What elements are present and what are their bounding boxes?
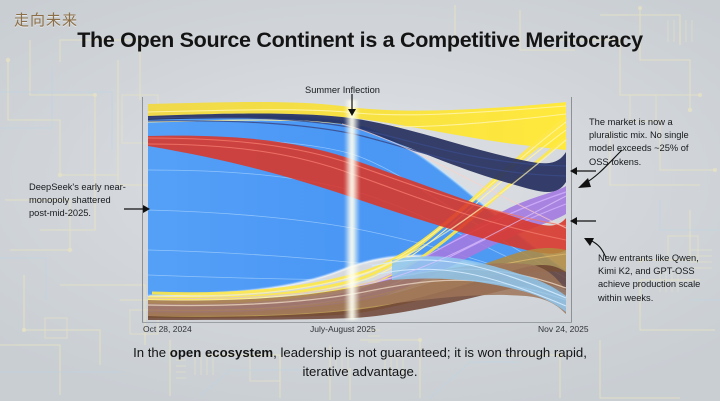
annotation-summer-inflection: Summer Inflection xyxy=(305,84,380,97)
caption-emphasis: open ecosystem xyxy=(170,345,273,360)
caption-lead: In the xyxy=(133,345,170,360)
axis-bottom-line xyxy=(142,322,572,323)
summer-inflection-marker xyxy=(344,100,360,320)
annotation-arrow-bottom-right xyxy=(568,215,596,227)
x-tick-label-start: Oct 28, 2024 xyxy=(143,324,192,334)
page-title: The Open Source Continent is a Competiti… xyxy=(0,28,720,53)
annotation-deepseek-monopoly: DeepSeek's early near-monopoly shattered… xyxy=(29,181,133,221)
annotation-new-entrants: New entrants like Qwen, Kimi K2, and GPT… xyxy=(598,252,710,305)
caption-tail: , leadership is not guaranteed; it is wo… xyxy=(273,345,587,379)
infographic-canvas: 走向未来 The Open Source Continent is a Comp… xyxy=(0,0,720,401)
annotation-pluralistic-market: The market is now a pluralistic mix. No … xyxy=(589,116,709,169)
footer-caption: In the open ecosystem, leadership is not… xyxy=(120,343,600,381)
x-tick-label-middle: July-August 2025 xyxy=(310,324,376,334)
x-tick-label-end: Nov 24, 2025 xyxy=(538,324,589,334)
brand-logo: 走向未来 xyxy=(14,9,78,30)
